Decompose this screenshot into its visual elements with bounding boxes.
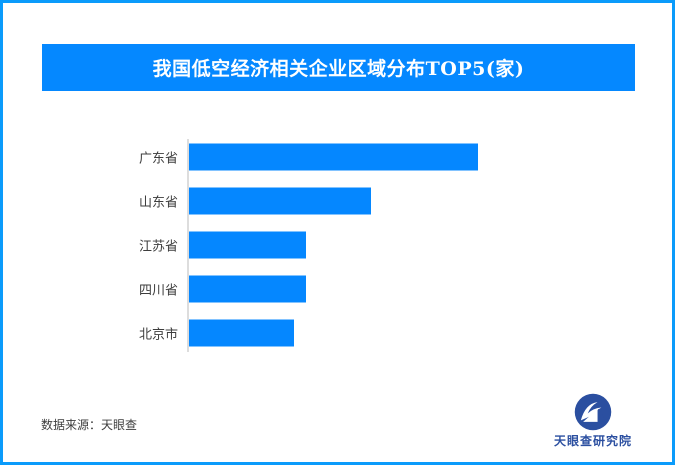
bar-row: 北京市 (3, 311, 675, 355)
bar-row: 广东省 (3, 135, 675, 179)
bar-北京市 (189, 320, 294, 347)
bar-row: 山东省 (3, 179, 675, 223)
bar-山东省 (189, 188, 371, 215)
tianyancha-eye-logo-icon (573, 393, 613, 431)
bar-rows-container: 广东省山东省江苏省四川省北京市 (3, 133, 675, 358)
logo-text: 天眼查研究院 (554, 432, 632, 449)
bar-chart: 广东省山东省江苏省四川省北京市 (3, 133, 675, 358)
title-banner: 我国低空经济相关企业区域分布TOP5(家) (42, 44, 635, 91)
bar-category-label: 北京市 (63, 324, 178, 343)
bar-category-label: 四川省 (63, 280, 178, 299)
bar-广东省 (189, 144, 478, 171)
bar-category-label: 山东省 (63, 192, 178, 211)
bar-江苏省 (189, 232, 306, 259)
bar-四川省 (189, 276, 306, 303)
source-note: 数据来源：天眼查 (41, 416, 137, 433)
brand-logo: 天眼查研究院 (542, 393, 644, 449)
bar-row: 江苏省 (3, 223, 675, 267)
infographic-page: 我国低空经济相关企业区域分布TOP5(家) 广东省山东省江苏省四川省北京市 数据… (0, 0, 675, 465)
bar-category-label: 广东省 (63, 148, 178, 167)
page-title: 我国低空经济相关企业区域分布TOP5(家) (153, 54, 525, 81)
bar-category-label: 江苏省 (63, 236, 178, 255)
bar-row: 四川省 (3, 267, 675, 311)
